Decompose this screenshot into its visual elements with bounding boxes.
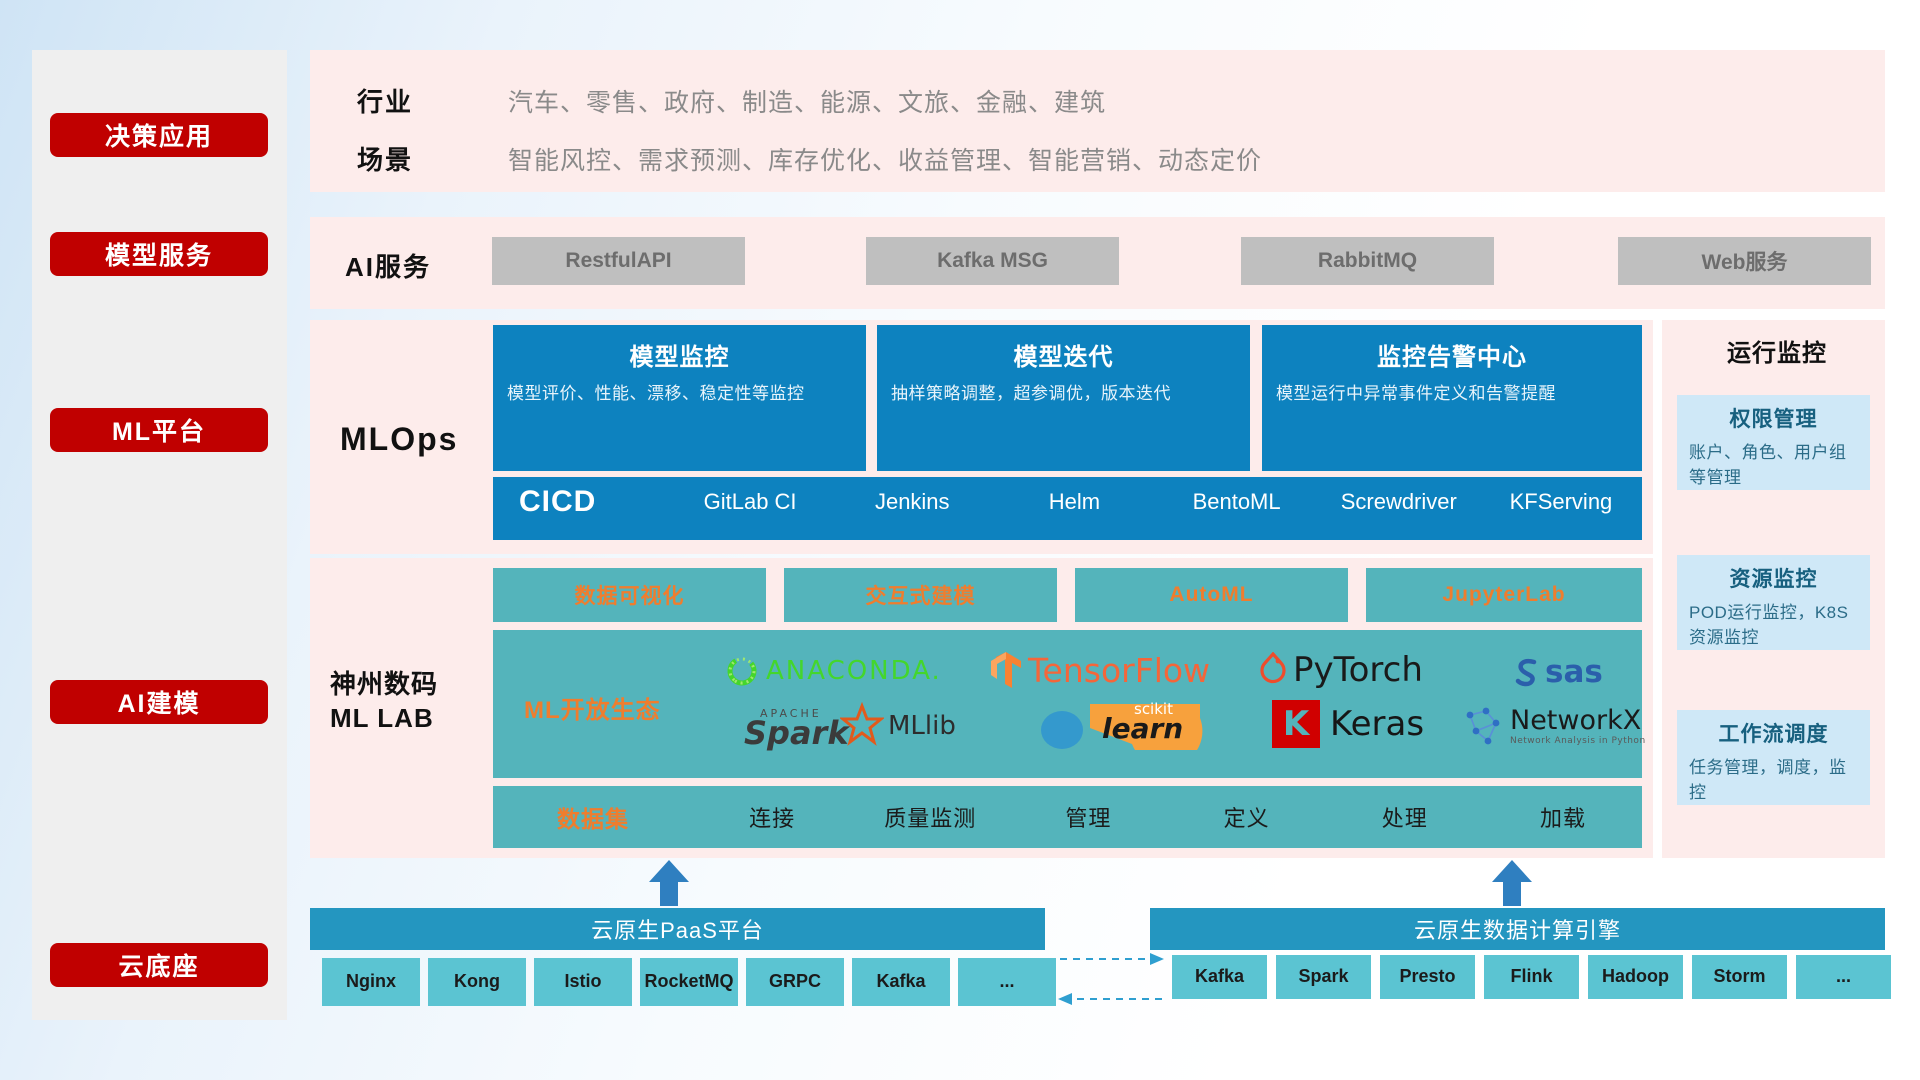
keras-logo-text: Keras [1330, 704, 1424, 744]
card-desc: 账户、角色、用户组等管理 [1689, 441, 1858, 490]
industry-value: 汽车、零售、政府、制造、能源、文旅、金融、建筑 [508, 83, 1106, 119]
pytorch-logo: PyTorch [1258, 650, 1423, 690]
paas-chip-istio[interactable]: Istio [534, 958, 632, 1006]
paas-chip-more[interactable]: ... [958, 958, 1056, 1006]
dataset-item-processing[interactable]: 处理 [1326, 801, 1484, 833]
engine-chip-storm[interactable]: Storm [1692, 955, 1787, 999]
card-desc: 抽样策略调整，超参调优，版本迭代 [891, 382, 1236, 407]
engine-chip-flink[interactable]: Flink [1484, 955, 1579, 999]
industry-label: 行业 [357, 82, 413, 119]
data-engine-bar[interactable]: 云原生数据计算引擎 [1150, 908, 1885, 950]
cicd-item-helm[interactable]: Helm [993, 477, 1155, 513]
ai-service-chip-restfulapi[interactable]: RestfulAPI [492, 237, 745, 285]
cicd-item-jenkins[interactable]: Jenkins [831, 477, 993, 513]
card-desc: 任务管理，调度，监控 [1689, 756, 1858, 805]
paas-platform-bar[interactable]: 云原生PaaS平台 [310, 908, 1045, 950]
ai-service-chip-rabbitmq[interactable]: RabbitMQ [1241, 237, 1494, 285]
rail-item-ai-modeling[interactable]: AI建模 [50, 680, 268, 724]
networkx-logo: NetworkX Network Analysis in Python [1462, 704, 1646, 748]
ml-lab-line2: ML LAB [330, 702, 495, 736]
diagram-canvas: 决策应用 模型服务 ML平台 AI建模 云底座 行业 汽车、零售、政府、制造、能… [0, 0, 1920, 1080]
monitoring-card-workflow[interactable]: 工作流调度 任务管理，调度，监控 [1677, 710, 1870, 805]
learn-text: learn [1102, 712, 1183, 745]
scenario-value: 智能风控、需求预测、库存优化、收益管理、智能营销、动态定价 [508, 141, 1262, 177]
dataset-item-connect[interactable]: 连接 [693, 801, 851, 833]
modeling-chip-data-visualization[interactable]: 数据可视化 [493, 568, 766, 622]
paas-chip-kafka[interactable]: Kafka [852, 958, 950, 1006]
spark-logo-text: Spark [744, 714, 849, 752]
paas-chip-kong[interactable]: Kong [428, 958, 526, 1006]
engine-chip-hadoop[interactable]: Hadoop [1588, 955, 1683, 999]
monitoring-card-permission[interactable]: 权限管理 账户、角色、用户组等管理 [1677, 395, 1870, 490]
card-title: 工作流调度 [1719, 718, 1829, 748]
mlops-card-model-monitoring[interactable]: 模型监控 模型评价、性能、漂移、稳定性等监控 [493, 325, 866, 471]
card-title: 资源监控 [1730, 563, 1818, 593]
mlops-card-model-iteration[interactable]: 模型迭代 抽样策略调整，超参调优，版本迭代 [877, 325, 1250, 471]
tensorflow-logo: TensorFlow [990, 650, 1210, 690]
rail-item-decision-app[interactable]: 决策应用 [50, 113, 268, 157]
paas-chip-rocketmq[interactable]: RocketMQ [640, 958, 738, 1006]
paas-chip-grpc[interactable]: GRPC [746, 958, 844, 1006]
card-title: 权限管理 [1730, 403, 1818, 433]
scenario-label: 场景 [357, 140, 413, 177]
arrow-up-engine [1488, 858, 1536, 906]
networkx-subtitle: Network Analysis in Python [1510, 736, 1646, 746]
modeling-chip-automl[interactable]: AutoML [1075, 568, 1348, 622]
engine-chip-more[interactable]: ... [1796, 955, 1891, 999]
mlops-card-alert-center[interactable]: 监控告警中心 模型运行中异常事件定义和告警提醒 [1262, 325, 1642, 471]
modeling-chip-jupyterlab[interactable]: JupyterLab [1366, 568, 1642, 622]
dataset-item-definition[interactable]: 定义 [1168, 801, 1326, 833]
card-title: 模型监控 [507, 337, 852, 372]
modeling-chip-interactive-modeling[interactable]: 交互式建模 [784, 568, 1057, 622]
card-title: 模型迭代 [891, 337, 1236, 372]
cicd-item-screwdriver[interactable]: Screwdriver [1318, 477, 1480, 513]
card-title: 监控告警中心 [1276, 337, 1628, 372]
pytorch-logo-text: PyTorch [1293, 650, 1423, 690]
tensorflow-logo-text: TensorFlow [1028, 651, 1210, 690]
dataset-item-management[interactable]: 管理 [1009, 801, 1167, 833]
mlops-label: MLOps [340, 421, 458, 458]
left-rail [32, 50, 287, 1020]
ml-ecosystem-label: ML开放生态 [524, 690, 661, 725]
cloud-link-arrows [1056, 945, 1166, 1015]
engine-chip-presto[interactable]: Presto [1380, 955, 1475, 999]
ai-service-label: AI服务 [345, 247, 431, 284]
engine-chip-spark[interactable]: Spark [1276, 955, 1371, 999]
sas-logo: sas [1510, 653, 1603, 691]
keras-mark-text: K [1283, 704, 1309, 744]
anaconda-logo: ANACONDA. [725, 652, 942, 690]
rail-item-cloud-base[interactable]: 云底座 [50, 943, 268, 987]
card-desc: POD运行监控，K8S资源监控 [1689, 601, 1858, 650]
arrow-up-paas [645, 858, 693, 906]
rail-item-model-service[interactable]: 模型服务 [50, 232, 268, 276]
ai-service-chip-web-service[interactable]: Web服务 [1618, 237, 1871, 285]
dataset-item-loading[interactable]: 加载 [1484, 801, 1642, 833]
dataset-row[interactable]: 数据集 连接 质量监测 管理 定义 处理 加载 [493, 786, 1642, 848]
ml-lab-title: 神州数码 ML LAB [330, 668, 495, 736]
engine-chip-kafka[interactable]: Kafka [1172, 955, 1267, 999]
ml-lab-line1: 神州数码 [330, 668, 495, 702]
cicd-row[interactable]: CICD GitLab CI Jenkins Helm BentoML Scre… [493, 477, 1642, 540]
cicd-title: CICD [493, 477, 669, 519]
networkx-logo-text: NetworkX [1510, 707, 1646, 734]
cicd-item-gitlab-ci[interactable]: GitLab CI [669, 477, 831, 513]
cicd-item-kfserving[interactable]: KFServing [1480, 477, 1642, 513]
dataset-item-quality-monitoring[interactable]: 质量监测 [851, 801, 1009, 833]
ai-service-chip-kafka-msg[interactable]: Kafka MSG [866, 237, 1119, 285]
card-desc: 模型运行中异常事件定义和告警提醒 [1276, 382, 1628, 407]
dataset-label: 数据集 [493, 800, 693, 834]
monitoring-card-resource[interactable]: 资源监控 POD运行监控，K8S资源监控 [1677, 555, 1870, 650]
mllib-logo-text: MLlib [888, 711, 956, 741]
paas-chip-nginx[interactable]: Nginx [322, 958, 420, 1006]
spark-mllib-logo: APACHE Spark MLlib [740, 702, 956, 750]
anaconda-logo-text: ANACONDA. [766, 656, 942, 686]
monitoring-title: 运行监控 [1727, 333, 1827, 368]
sas-logo-text: sas [1545, 654, 1603, 690]
scikit-learn-logo: scikit learn [1040, 700, 1204, 752]
cicd-item-bentoml[interactable]: BentoML [1156, 477, 1318, 513]
keras-logo: K Keras [1272, 700, 1424, 748]
card-desc: 模型评价、性能、漂移、稳定性等监控 [507, 382, 852, 407]
rail-item-ml-platform[interactable]: ML平台 [50, 408, 268, 452]
